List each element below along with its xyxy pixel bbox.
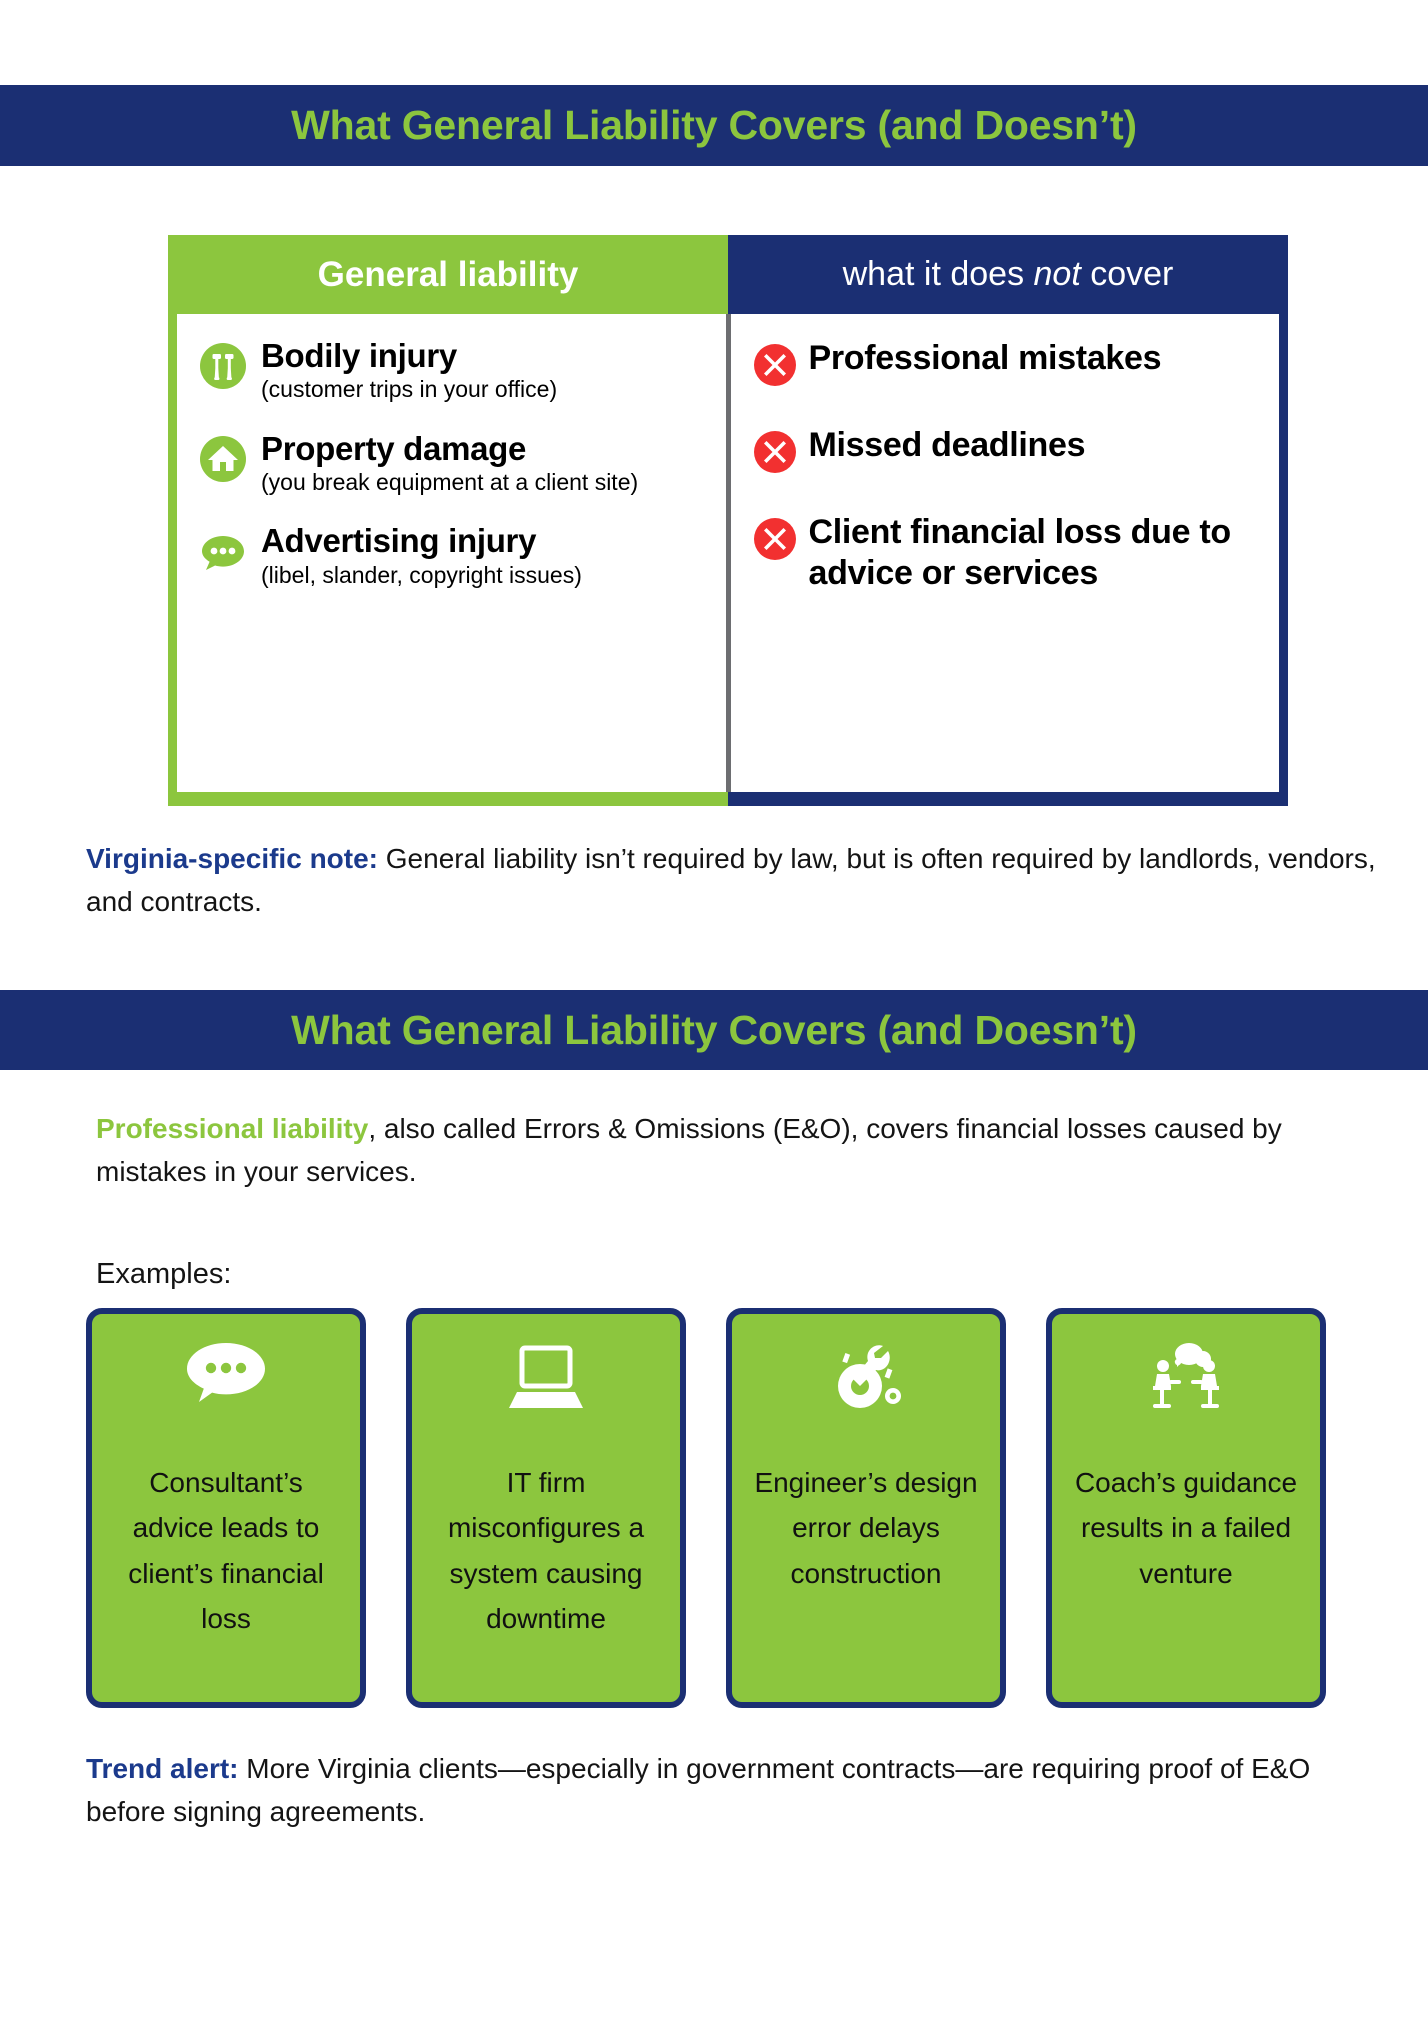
professional-liability-lead: Professional liability (96, 1113, 368, 1144)
not-covered-item: Missed deadlines (753, 425, 1258, 474)
example-card-text: IT firm misconfigures a system causing d… (426, 1460, 666, 1641)
covered-item-title: Bodily injury (261, 338, 704, 373)
example-card-text: Consultant’s advice leads to client’s fi… (106, 1460, 346, 1641)
covered-item-sub: (you break equipment at a client site) (261, 468, 704, 497)
example-card-text: Engineer’s design error delays construct… (746, 1460, 986, 1596)
table-header-not-covered: what it does not cover (728, 235, 1288, 314)
covered-item: Advertising injury (libel, slander, copy… (199, 523, 704, 590)
meeting-people-icon (1143, 1340, 1229, 1418)
crutches-icon (199, 342, 247, 390)
table-footer-bar-green (168, 792, 728, 806)
table-header-covered-label: General liability (318, 255, 579, 295)
not-covered-item-title: Missed deadlines (809, 425, 1258, 466)
professional-liability-intro: Professional liability, also called Erro… (96, 1108, 1366, 1193)
house-icon (199, 435, 247, 483)
x-circle-icon (753, 343, 797, 387)
covered-item-sub: (libel, slander, copyright issues) (261, 561, 704, 590)
not-covered-column: Professional mistakes Missed deadlines (726, 314, 1289, 792)
not-covered-item: Professional mistakes (753, 338, 1258, 387)
section-1-banner: What General Liability Covers (and Doesn… (0, 85, 1428, 166)
laptop-icon (503, 1340, 589, 1418)
not-covered-item-title: Professional mistakes (809, 338, 1258, 379)
covered-item-title: Property damage (261, 431, 704, 466)
example-card: Engineer’s design error delays construct… (726, 1308, 1006, 1708)
covered-column: Bodily injury (customer trips in your of… (168, 314, 726, 792)
table-header-not-covered-label: what it does not cover (843, 255, 1174, 294)
virginia-note-lead: Virginia-specific note: (86, 843, 378, 874)
table-header-covered: General liability (168, 235, 728, 314)
trend-alert-lead: Trend alert: (86, 1753, 238, 1784)
table-footer-bars (168, 792, 1288, 806)
speech-bubble-icon (199, 527, 247, 575)
section-2-title: What General Liability Covers (and Doesn… (291, 1007, 1137, 1054)
covered-item-sub: (customer trips in your office) (261, 375, 704, 404)
covered-item-title: Advertising injury (261, 523, 704, 558)
wrench-gear-icon (823, 1340, 909, 1418)
section-1-title: What General Liability Covers (and Doesn… (291, 102, 1137, 149)
not-covered-item: Client financial loss due to advice or s… (753, 512, 1258, 595)
example-card: Consultant’s advice leads to client’s fi… (86, 1308, 366, 1708)
trend-alert-note: Trend alert: More Virginia clients—espec… (86, 1748, 1356, 1833)
example-cards-row: Consultant’s advice leads to client’s fi… (86, 1308, 1346, 1708)
trend-alert-body: More Virginia clients—especially in gove… (86, 1753, 1310, 1827)
speech-bubble-icon (183, 1340, 269, 1418)
covered-item: Bodily injury (customer trips in your of… (199, 338, 704, 405)
x-circle-icon (753, 430, 797, 474)
x-circle-icon (753, 517, 797, 561)
example-card: IT firm misconfigures a system causing d… (406, 1308, 686, 1708)
example-card: Coach’s guidance results in a failed ven… (1046, 1308, 1326, 1708)
examples-label: Examples: (96, 1252, 496, 1296)
table-header-row: General liability what it does not cover (168, 235, 1288, 314)
example-card-text: Coach’s guidance results in a failed ven… (1066, 1460, 1306, 1596)
coverage-comparison-table: General liability what it does not cover (168, 235, 1288, 820)
section-2-banner: What General Liability Covers (and Doesn… (0, 990, 1428, 1070)
table-footer-bar-navy (728, 792, 1288, 806)
table-body: Bodily injury (customer trips in your of… (168, 314, 1288, 792)
virginia-specific-note: Virginia-specific note: General liabilit… (86, 838, 1376, 923)
covered-item: Property damage (you break equipment at … (199, 431, 704, 498)
not-covered-item-title: Client financial loss due to advice or s… (809, 512, 1258, 595)
